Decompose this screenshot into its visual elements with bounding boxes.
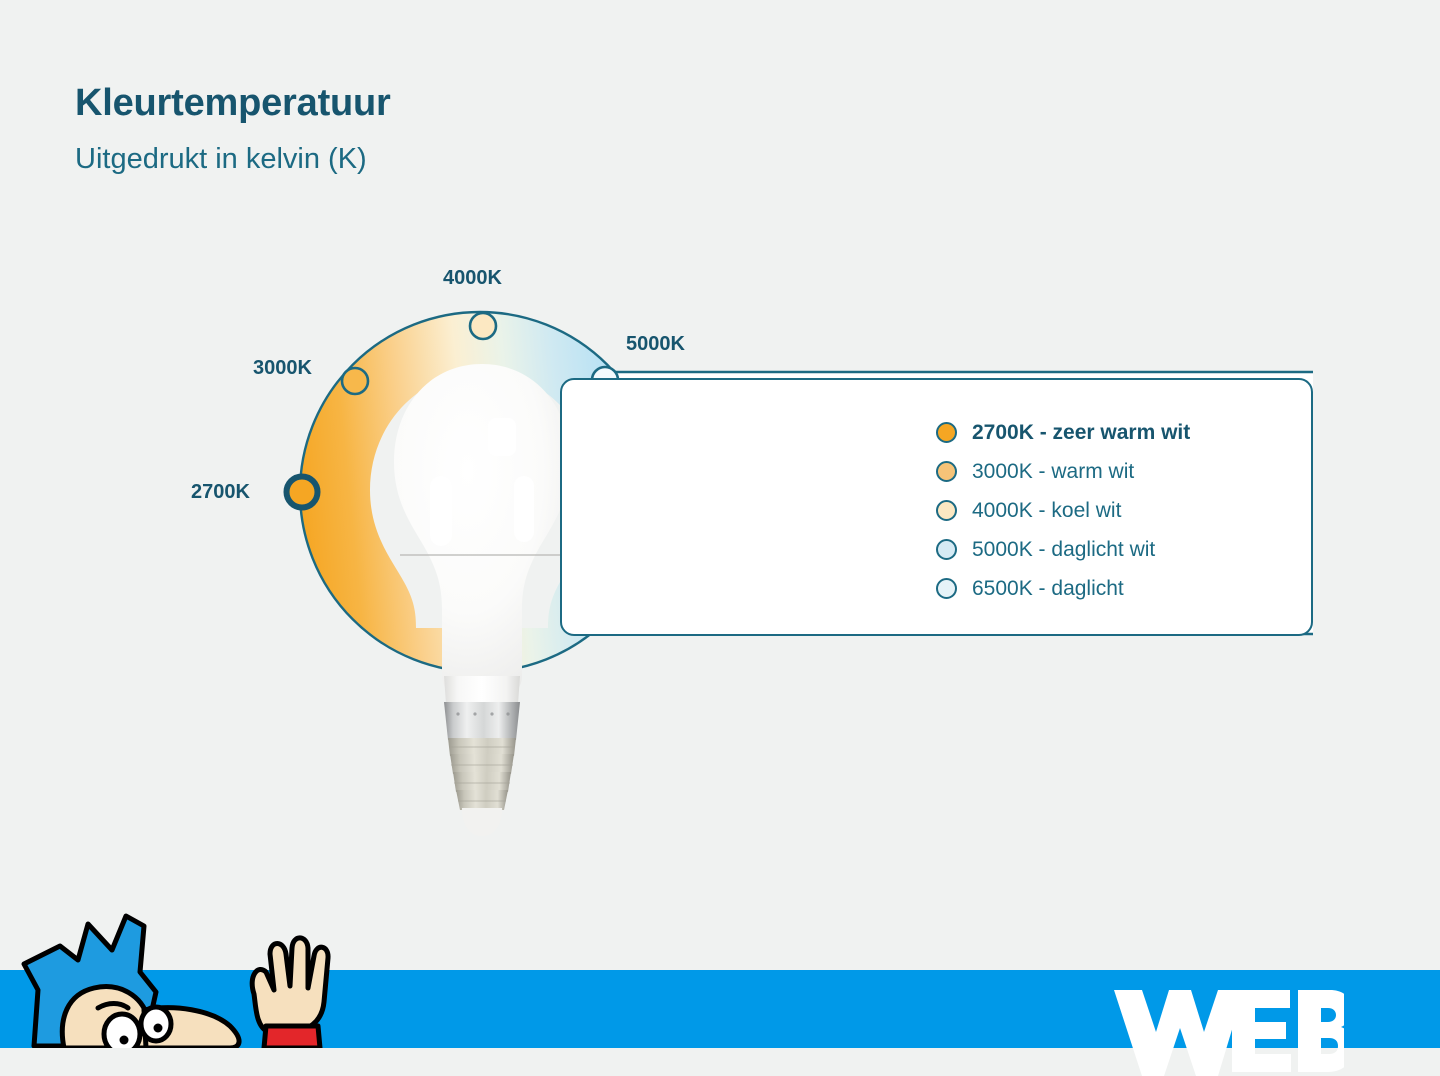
mascot-illustration bbox=[16, 898, 376, 1048]
mascot-hand bbox=[252, 938, 328, 1032]
legend-swatch-5000k bbox=[936, 539, 957, 560]
marker-3000k[interactable] bbox=[342, 368, 368, 394]
legend-label-3000k: 3000K - warm wit bbox=[972, 461, 1134, 482]
bulb-neck bbox=[444, 676, 520, 704]
bulb-highlight-right bbox=[514, 476, 534, 542]
bulb-highlight-top bbox=[488, 418, 516, 456]
screw-thread-2 bbox=[450, 754, 514, 774]
led-bulb-illustration bbox=[392, 358, 572, 858]
bulb-tip bbox=[462, 808, 502, 836]
infographic-canvas: Kleurtemperatuur Uitgedrukt in kelvin (K… bbox=[0, 0, 1440, 1048]
legend-list: 2700K - zeer warm wit 3000K - warm wit 4… bbox=[936, 416, 1190, 605]
legend-label-6500k: 6500K - daglicht bbox=[972, 578, 1124, 599]
legend-label-4000k: 4000K - koel wit bbox=[972, 500, 1121, 521]
legend-swatch-2700k bbox=[936, 422, 957, 443]
wheel-label-3000k: 3000K bbox=[253, 358, 312, 378]
marker-2700k-selected[interactable] bbox=[287, 477, 318, 508]
legend-item-2700k[interactable]: 2700K - zeer warm wit bbox=[936, 416, 1190, 449]
weba-logo bbox=[1112, 984, 1344, 1076]
bulb-glass bbox=[394, 364, 570, 696]
wheel-label-5000k: 5000K bbox=[626, 334, 685, 354]
screw-thread-4 bbox=[456, 790, 508, 810]
legend-label-5000k: 5000K - daglicht wit bbox=[972, 539, 1155, 560]
legend-item-5000k[interactable]: 5000K - daglicht wit bbox=[936, 533, 1190, 566]
legend-item-4000k[interactable]: 4000K - koel wit bbox=[936, 494, 1190, 527]
legend-swatch-6500k bbox=[936, 578, 957, 599]
legend-item-3000k[interactable]: 3000K - warm wit bbox=[936, 455, 1190, 488]
marker-4000k[interactable] bbox=[470, 313, 496, 339]
wheel-label-4000k: 4000K bbox=[443, 268, 502, 288]
mascot-pupil-right bbox=[154, 1024, 163, 1033]
legend-item-6500k[interactable]: 6500K - daglicht bbox=[936, 572, 1190, 605]
mascot-sleeve bbox=[264, 1026, 320, 1048]
legend-swatch-4000k bbox=[936, 500, 957, 521]
screw-thread-3 bbox=[453, 772, 511, 792]
bulb-highlight-left bbox=[430, 476, 452, 546]
bulb-collar bbox=[444, 702, 520, 740]
legend-label-2700k: 2700K - zeer warm wit bbox=[972, 422, 1190, 443]
page-subtitle: Uitgedrukt in kelvin (K) bbox=[75, 145, 367, 174]
mascot-pupil-left bbox=[120, 1036, 129, 1045]
wheel-label-2700k: 2700K bbox=[191, 482, 250, 502]
page-title: Kleurtemperatuur bbox=[75, 84, 391, 122]
legend-swatch-3000k bbox=[936, 461, 957, 482]
bulb-seam bbox=[400, 554, 564, 556]
legend-panel: 2700K - zeer warm wit 3000K - warm wit 4… bbox=[560, 378, 1313, 636]
